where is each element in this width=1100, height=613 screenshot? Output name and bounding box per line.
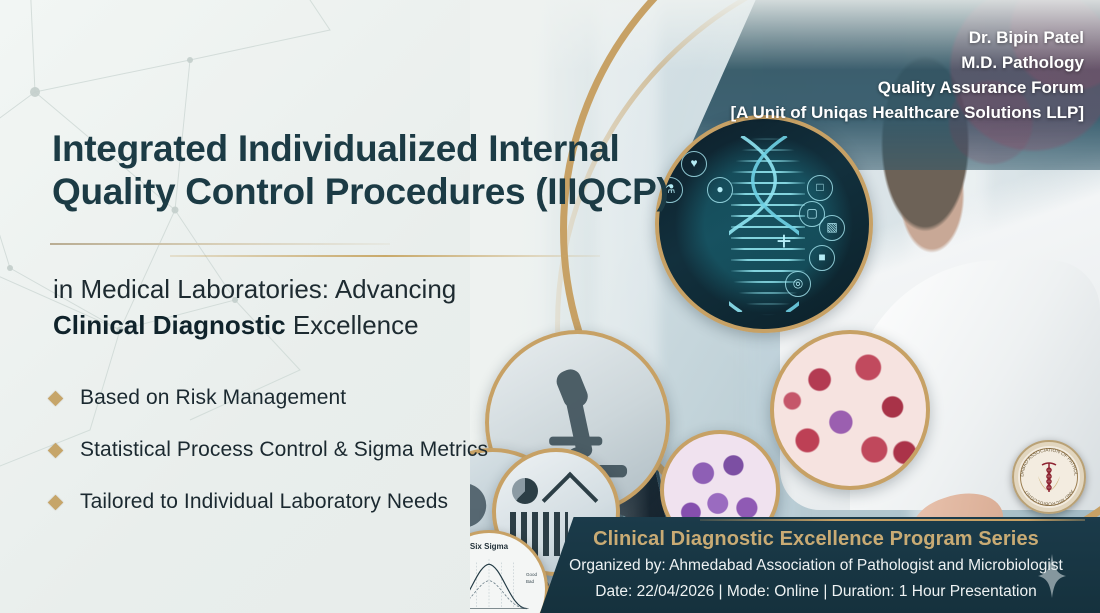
microscope-small-icon: ▧ — [819, 215, 845, 241]
six-sigma-chart-bubble: Six Sigma Good Bad Sigma Levels — [470, 530, 548, 613]
subtitle-tail: Excellence — [286, 310, 419, 340]
gold-divider-upper — [50, 243, 390, 245]
banner-organizer: Organized by: Ahmedabad Association of P… — [540, 557, 1092, 575]
diamond-bullet-icon — [48, 442, 64, 458]
diamond-bullet-icon — [48, 494, 64, 510]
title-line-2: Quality Control Procedures (IIIQCP) — [52, 171, 712, 214]
plus-cross-icon: + — [771, 231, 797, 257]
speaker-unit: [A Unit of Uniqas Healthcare Solutions L… — [730, 101, 1084, 126]
caduceus-icon — [1036, 460, 1062, 494]
speaker-qualification: M.D. Pathology — [730, 51, 1084, 76]
briefcase-icon: ■ — [809, 245, 835, 271]
bullet-list: Based on Risk Management Statistical Pro… — [50, 386, 488, 542]
list-item: Tailored to Individual Laboratory Needs — [50, 490, 488, 514]
six-sigma-chart-title: Six Sigma — [470, 542, 545, 551]
bullet-label: Based on Risk Management — [80, 386, 346, 410]
subtitle-line-2: Clinical Diagnostic Excellence — [53, 308, 613, 344]
subtitle-emphasis: Clinical Diagnostic — [53, 310, 286, 340]
speaker-info-block: Dr. Bipin Patel M.D. Pathology Quality A… — [730, 26, 1084, 126]
speaker-name: Dr. Bipin Patel — [730, 26, 1084, 51]
stethoscope-icon: ◎ — [785, 271, 811, 297]
list-item: Based on Risk Management — [50, 386, 488, 410]
presentation-slide: ♥ ⚗ ● ▢ + ■ ▧ ◎ □ — [0, 0, 1100, 613]
sparkle-diamond-icon — [1038, 554, 1066, 598]
speaker-organization: Quality Assurance Forum — [730, 76, 1084, 101]
pie-chart-icon — [512, 478, 538, 504]
legend-item-bad: Bad — [526, 578, 537, 585]
list-item: Statistical Process Control & Sigma Metr… — [50, 438, 488, 462]
title-line-1: Integrated Individualized Internal — [52, 128, 712, 171]
bullet-label: Statistical Process Control & Sigma Metr… — [80, 438, 488, 462]
legend-item-good: Good — [526, 571, 537, 578]
six-sigma-legend: Good Bad — [526, 571, 537, 585]
screen-icon: □ — [807, 175, 833, 201]
banner-gold-rule — [700, 519, 1085, 521]
diamond-bullet-icon — [48, 390, 64, 406]
association-emblem: AHMEDABAD ASSOCIATION OF PATHOLOGIST AND… — [1012, 440, 1086, 514]
slide-subtitle: in Medical Laboratories: Advancing Clini… — [53, 272, 613, 344]
slide-title: Integrated Individualized Internal Quali… — [52, 128, 712, 213]
gold-divider-lower — [170, 255, 600, 257]
banner-series-title: Clinical Diagnostic Excellence Program S… — [540, 528, 1092, 551]
subtitle-line-1: in Medical Laboratories: Advancing — [53, 272, 613, 308]
bullet-label: Tailored to Individual Laboratory Needs — [80, 490, 448, 514]
banner-event-meta: Date: 22/04/2026 | Mode: Online | Durati… — [540, 583, 1092, 601]
blood-smear-bubble-image — [770, 330, 930, 490]
